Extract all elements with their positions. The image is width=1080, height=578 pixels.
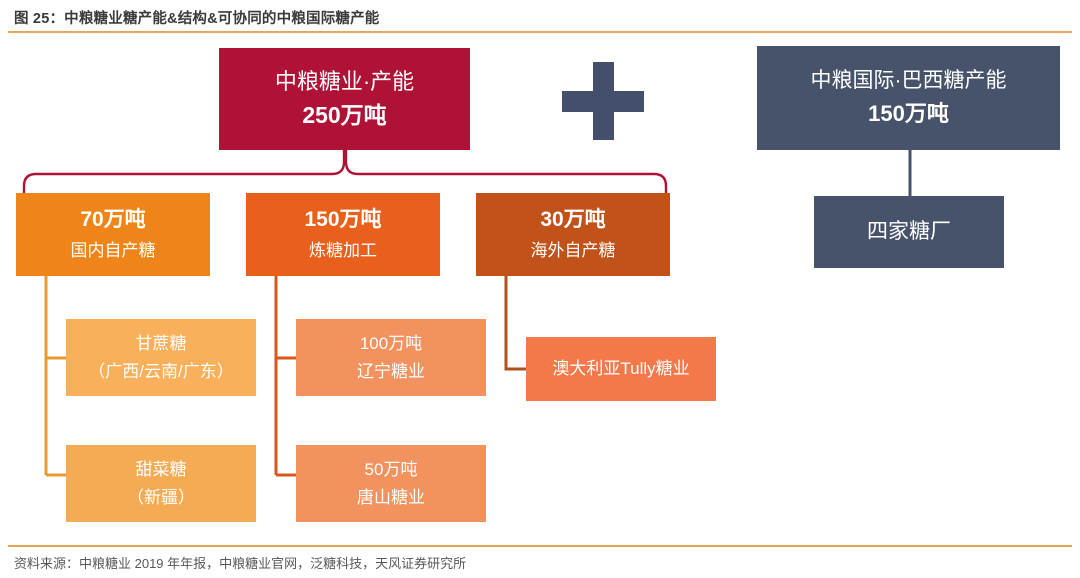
node-tully-label: 澳大利亚Tully糖业 [552,358,689,380]
node-australia-tully-sugar[interactable]: 澳大利亚Tully糖业 [526,337,716,401]
node-overseas-value: 30万吨 [540,207,605,234]
node-cofco-intl-label: 中粮国际·巴西糖产能 [811,68,1007,95]
node-overseas-self-produced-sugar[interactable]: 30万吨 海外自产糖 [476,193,670,276]
figure-container: 图 25：中粮糖业糖产能&结构&可协同的中粮国际糖产能 中粮糖业·产能 250万… [0,0,1080,578]
node-cofco-intl-value: 150万吨 [868,100,949,128]
node-sugar-refining[interactable]: 150万吨 炼糖加工 [246,193,440,276]
node-beet-sugar[interactable]: 甜菜糖 （新疆） [66,445,256,522]
node-cofco-sugar-capacity[interactable]: 中粮糖业·产能 250万吨 [219,48,470,150]
node-liaoning-value: 100万吨 [360,333,422,355]
node-cofco-international-brazil-capacity[interactable]: 中粮国际·巴西糖产能 150万吨 [757,46,1060,150]
node-domestic-self-produced-sugar[interactable]: 70万吨 国内自产糖 [16,193,210,276]
node-cane-sugar[interactable]: 甘蔗糖 （广西/云南/广东） [66,319,256,396]
node-tangshan-sugar[interactable]: 50万吨 唐山糖业 [296,445,486,522]
node-liaoning-sugar[interactable]: 100万吨 辽宁糖业 [296,319,486,396]
node-domestic-label: 国内自产糖 [71,240,156,262]
node-domestic-value: 70万吨 [80,207,145,234]
node-refining-value: 150万吨 [304,207,381,234]
node-cane-sugar-regions: （广西/云南/广东） [88,361,233,383]
title-divider [8,31,1072,33]
node-cofco-sugar-value: 250万吨 [302,101,386,130]
node-tangshan-value: 50万吨 [365,459,418,481]
node-cofco-sugar-label: 中粮糖业·产能 [275,68,414,96]
node-beet-sugar-regions: （新疆） [127,487,195,509]
plus-icon-vertical-bar [593,62,614,140]
node-four-sugar-mills[interactable]: 四家糖厂 [814,196,1004,268]
footer-divider [8,545,1072,547]
figure-title: 图 25：中粮糖业糖产能&结构&可协同的中粮国际糖产能 [14,7,380,28]
figure-source: 资料来源：中粮糖业 2019 年年报，中粮糖业官网，泛糖科技，天风证券研究所 [14,553,466,572]
node-cane-sugar-label: 甘蔗糖 [136,333,187,355]
node-liaoning-label: 辽宁糖业 [357,361,425,383]
plus-icon [562,62,644,140]
node-beet-sugar-label: 甜菜糖 [136,459,187,481]
node-overseas-label: 海外自产糖 [531,240,616,262]
node-tangshan-label: 唐山糖业 [357,487,425,509]
node-four-mills-label: 四家糖厂 [867,219,951,246]
node-refining-label: 炼糖加工 [309,240,377,262]
